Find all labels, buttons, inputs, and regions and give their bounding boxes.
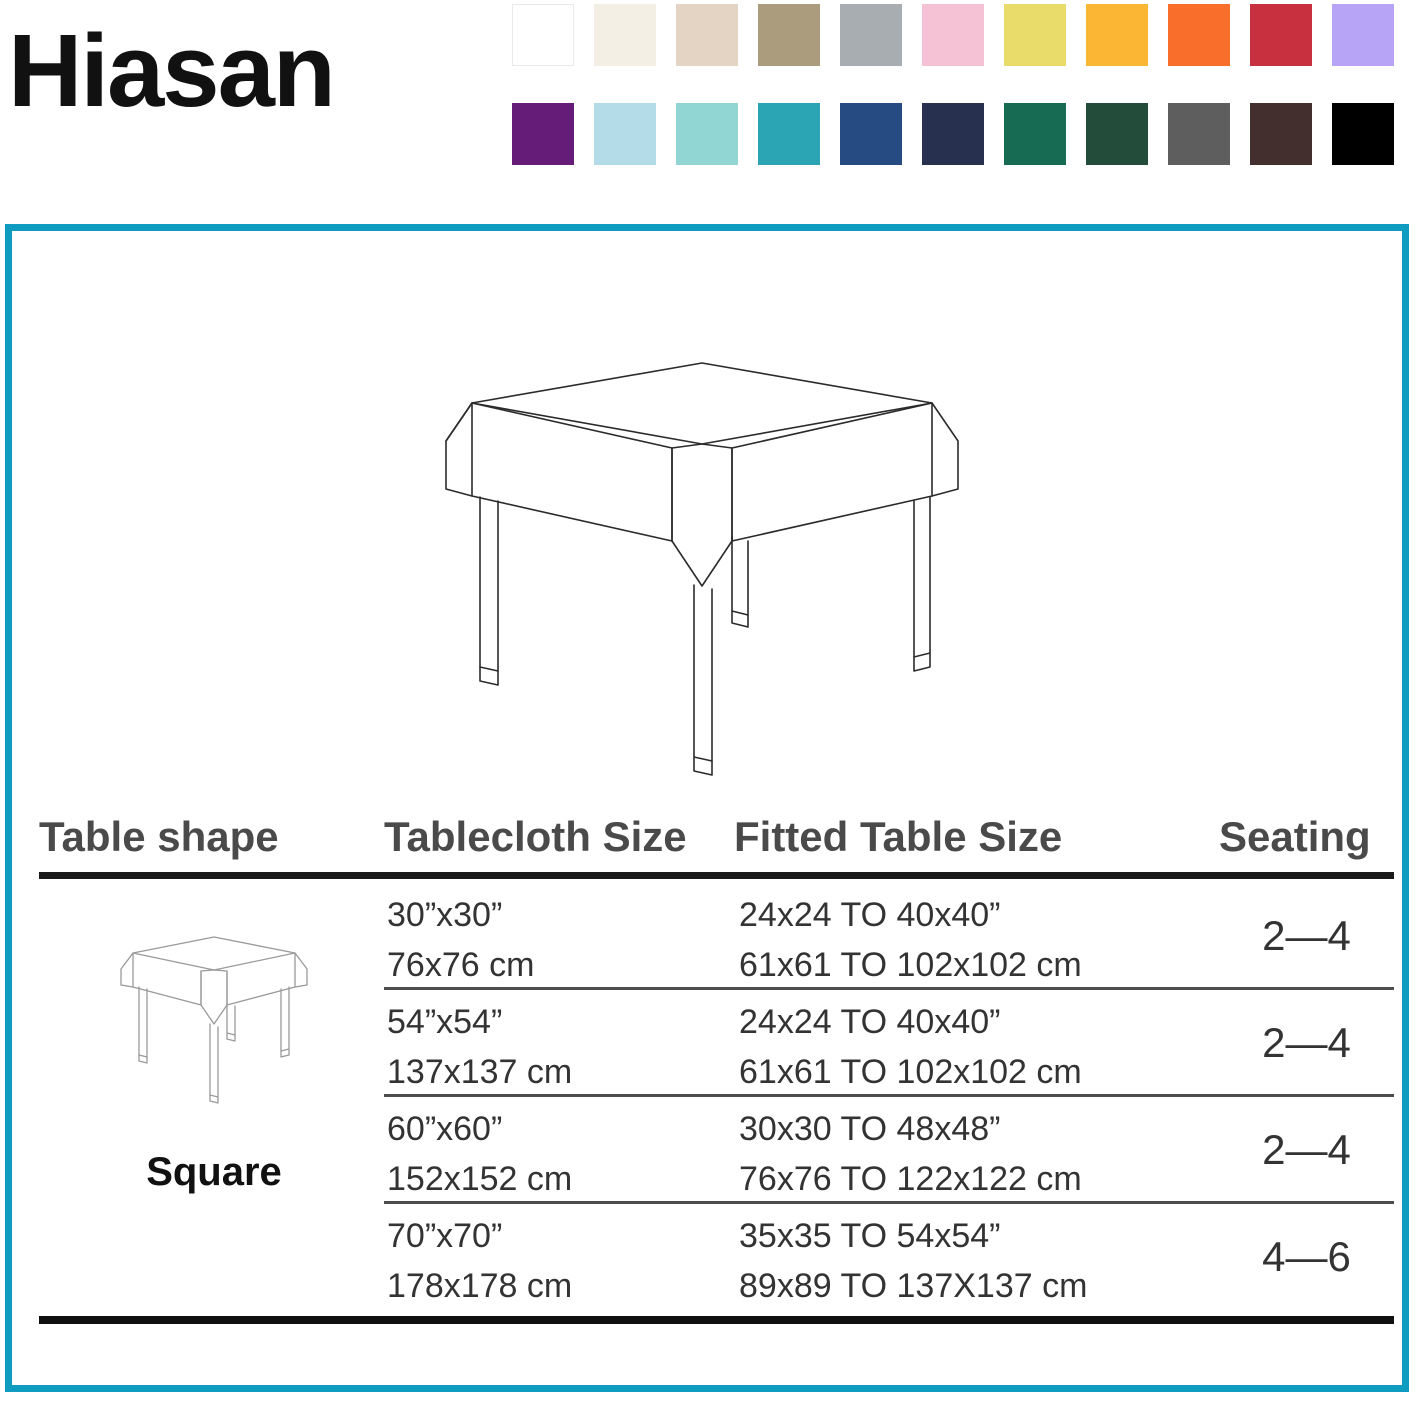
cell-fitted-table-size: 35x35 TO 54x54”89x89 TO 137X137 cm: [739, 1211, 1087, 1311]
color-swatch-navy[interactable]: [922, 103, 984, 165]
tablecloth-size-cm: 178x178 cm: [387, 1261, 572, 1311]
color-swatch-black[interactable]: [1332, 103, 1394, 165]
table-row: 70”x70”178x178 cm35x35 TO 54x54”89x89 TO…: [34, 1203, 1394, 1311]
cell-tablecloth-size: 70”x70”178x178 cm: [387, 1211, 572, 1311]
column-header-seating: Seating: [1219, 806, 1371, 868]
table-row: 54”x54”137x137 cm24x24 TO 40x40”61x61 TO…: [34, 989, 1394, 1097]
color-swatch-teal[interactable]: [758, 103, 820, 165]
cell-seating: 4—6: [1219, 1203, 1394, 1311]
color-swatch-taupe[interactable]: [758, 4, 820, 66]
tablecloth-size-inches: 60”x60”: [387, 1110, 502, 1148]
color-swatch-crimson-red[interactable]: [1250, 4, 1312, 66]
fitted-size-cm: 76x76 TO 122x122 cm: [739, 1154, 1082, 1204]
color-swatch-forest-green[interactable]: [1086, 103, 1148, 165]
cell-tablecloth-size: 30”x30”76x76 cm: [387, 890, 534, 990]
cell-tablecloth-size: 54”x54”137x137 cm: [387, 997, 572, 1097]
cell-fitted-table-size: 30x30 TO 48x48”76x76 TO 122x122 cm: [739, 1104, 1082, 1204]
tablecloth-size-cm: 152x152 cm: [387, 1154, 572, 1204]
color-swatch-ivory[interactable]: [594, 4, 656, 66]
fitted-size-inches: 24x24 TO 40x40”: [739, 1003, 1000, 1041]
fitted-size-inches: 24x24 TO 40x40”: [739, 896, 1000, 934]
color-swatch-soft-yellow[interactable]: [1004, 4, 1066, 66]
header-rule: [39, 872, 1394, 879]
fitted-size-cm: 61x61 TO 102x102 cm: [739, 1047, 1082, 1097]
swatch-row-1: [512, 4, 1412, 66]
table-row: 30”x30”76x76 cm24x24 TO 40x40”61x61 TO 1…: [34, 882, 1394, 990]
column-header-tablecloth-size: Tablecloth Size: [384, 806, 687, 868]
fitted-size-cm: 61x61 TO 102x102 cm: [739, 940, 1082, 990]
color-swatch-beige[interactable]: [676, 4, 738, 66]
color-swatch-emerald-green[interactable]: [1004, 103, 1066, 165]
color-swatch-powder-blue[interactable]: [594, 103, 656, 165]
size-table: Table shape Tablecloth Size Fitted Table…: [34, 806, 1394, 1326]
table-header-row: Table shape Tablecloth Size Fitted Table…: [34, 806, 1394, 868]
tablecloth-size-cm: 76x76 cm: [387, 940, 534, 990]
color-swatch-orange[interactable]: [1168, 4, 1230, 66]
cell-tablecloth-size: 60”x60”152x152 cm: [387, 1104, 572, 1204]
color-swatch-charcoal-gray[interactable]: [1168, 103, 1230, 165]
cell-fitted-table-size: 24x24 TO 40x40”61x61 TO 102x102 cm: [739, 890, 1082, 990]
column-header-fitted-table-size: Fitted Table Size: [734, 806, 1062, 868]
swatch-row-2: [512, 103, 1412, 165]
color-swatch-denim-blue[interactable]: [840, 103, 902, 165]
table-rows: 30”x30”76x76 cm24x24 TO 40x40”61x61 TO 1…: [34, 882, 1394, 1316]
color-swatch-marigold[interactable]: [1086, 4, 1148, 66]
color-swatch-dark-brown[interactable]: [1250, 103, 1312, 165]
color-swatch-white[interactable]: [512, 4, 574, 66]
brand-name: Hiasan: [8, 8, 478, 133]
color-swatch-blush-pink[interactable]: [922, 4, 984, 66]
cell-seating: 2—4: [1219, 989, 1394, 1097]
column-header-table-shape: Table shape: [39, 806, 279, 868]
table-bottom-rule: [39, 1316, 1394, 1324]
tablecloth-size-cm: 137x137 cm: [387, 1047, 572, 1097]
square-table-illustration: [402, 341, 1002, 801]
color-swatch-purple[interactable]: [512, 103, 574, 165]
color-swatch-aqua-mint[interactable]: [676, 103, 738, 165]
fitted-size-inches: 30x30 TO 48x48”: [739, 1110, 1000, 1148]
tablecloth-size-inches: 30”x30”: [387, 896, 502, 934]
cell-seating: 2—4: [1219, 882, 1394, 990]
color-swatch-silver-gray[interactable]: [840, 4, 902, 66]
table-row: 60”x60”152x152 cm30x30 TO 48x48”76x76 TO…: [34, 1096, 1394, 1204]
cell-fitted-table-size: 24x24 TO 40x40”61x61 TO 102x102 cm: [739, 997, 1082, 1097]
color-swatch-lavender[interactable]: [1332, 4, 1394, 66]
brand-logo: Hiasan: [8, 8, 478, 133]
fitted-size-inches: 35x35 TO 54x54”: [739, 1217, 1000, 1255]
size-chart-frame: Table shape Tablecloth Size Fitted Table…: [5, 224, 1409, 1392]
tablecloth-size-inches: 54”x54”: [387, 1003, 502, 1041]
cell-seating: 2—4: [1219, 1096, 1394, 1204]
fitted-size-cm: 89x89 TO 137X137 cm: [739, 1261, 1087, 1311]
tablecloth-size-inches: 70”x70”: [387, 1217, 502, 1255]
color-swatch-grid: [512, 4, 1412, 169]
